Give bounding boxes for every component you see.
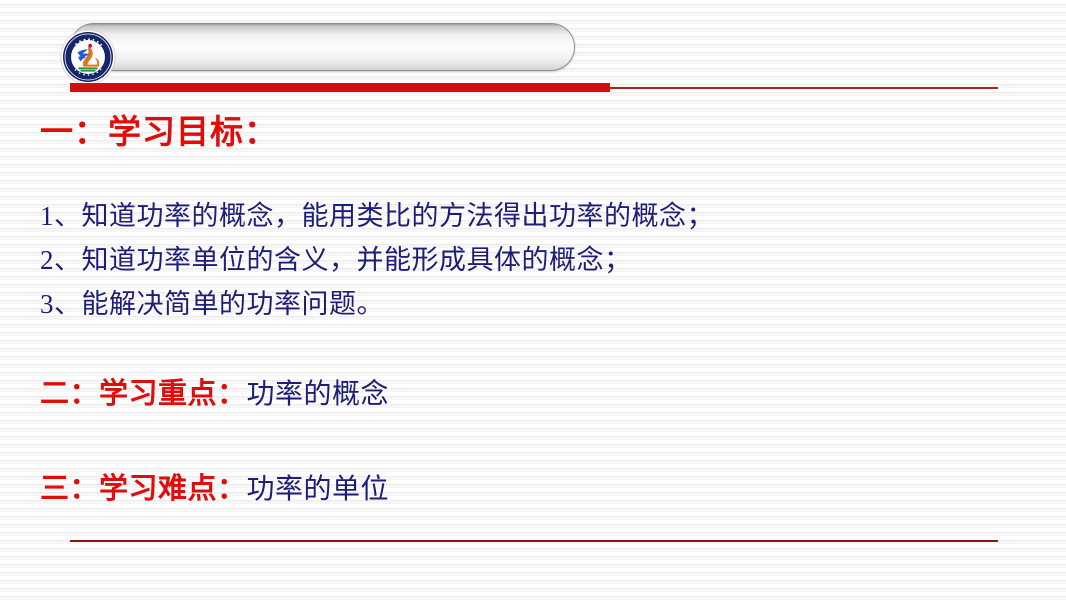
objective-item-3: 3、能解决简单的功率问题。	[40, 282, 1040, 326]
title-capsule-text	[131, 34, 554, 62]
objective-item-2: 2、知道功率单位的含义，并能形成具体的概念；	[40, 238, 1040, 282]
footer-rule	[70, 540, 998, 542]
school-emblem-icon	[59, 28, 117, 86]
objective-item-1: 1、知道功率的概念，能用类比的方法得出功率的概念；	[40, 194, 1040, 238]
objectives-list: 1、知道功率的概念，能用类比的方法得出功率的概念； 2、知道功率单位的含义，并能…	[40, 194, 1040, 326]
title-capsule-bar	[70, 23, 575, 71]
header-red-bar	[70, 83, 610, 92]
slide-content: 一：学习目标： 1、知道功率的概念，能用类比的方法得出功率的概念； 2、知道功率…	[40, 110, 1040, 516]
key-point-value: 功率的概念	[247, 379, 390, 410]
difficult-point-label: 三：学习难点：	[40, 473, 247, 505]
slide-header	[0, 0, 1066, 105]
difficult-point-section: 三：学习难点：功率的单位	[40, 467, 1040, 516]
objectives-heading: 一：学习目标：	[40, 110, 1040, 156]
slide-canvas: 一：学习目标： 1、知道功率的概念，能用类比的方法得出功率的概念； 2、知道功率…	[0, 0, 1066, 600]
difficult-point-value: 功率的单位	[247, 474, 390, 505]
key-point-label: 二：学习重点：	[40, 378, 247, 410]
key-point-section: 二：学习重点：功率的概念	[40, 372, 1040, 421]
header-red-rule	[610, 87, 998, 89]
